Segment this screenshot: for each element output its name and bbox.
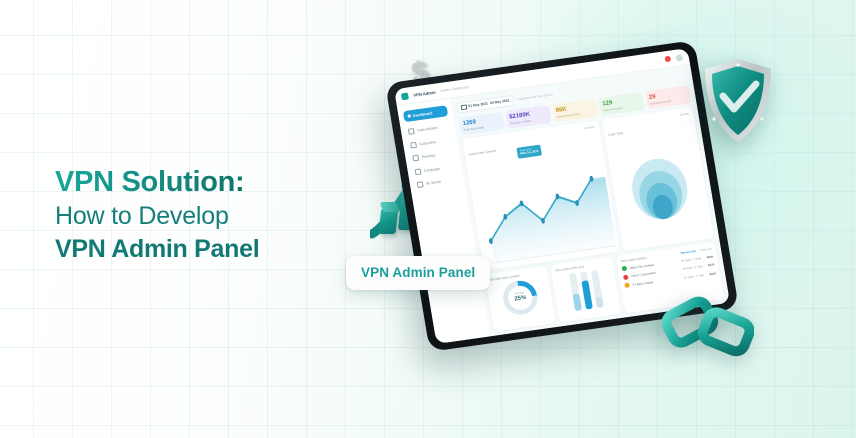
user-icon — [410, 141, 417, 148]
chart-title: Data Type — [608, 131, 623, 137]
growth-bar-1 — [379, 208, 399, 234]
chart-icon — [408, 128, 415, 135]
subscription-meta: 15 Sale / 1 Year — [682, 264, 703, 271]
logo-icon — [401, 92, 409, 100]
bar-column-1 — [568, 273, 581, 311]
compare-label[interactable]: Compare with last period — [517, 93, 553, 102]
chart-tooltip: Subscriber May 14, 2021 — [516, 145, 542, 159]
headline-line-1: VPN Solution: — [55, 165, 355, 200]
status-dot-icon — [622, 266, 628, 272]
subscription-amount: $410 — [709, 271, 716, 276]
data-type-chart: Data Type Weekly — [602, 107, 714, 250]
sidebar-item-dashboard[interactable]: Dashboard — [403, 105, 448, 122]
sales-growth-gauge: Average 25% — [501, 279, 540, 317]
funnel-chart-svg — [606, 134, 713, 249]
tab-offline[interactable]: Offline (8) — [699, 247, 712, 253]
tab-recent[interactable]: Recent (15) — [680, 249, 696, 255]
area-chart-svg — [468, 154, 619, 267]
sidebar-item-package[interactable]: Package — [412, 150, 455, 162]
subscription-amount: $500 — [706, 254, 713, 259]
box-icon — [412, 155, 419, 162]
sidebar-item-data-analytic[interactable]: Data Analytic — [408, 123, 451, 135]
chart-period-dropdown[interactable]: Monthly — [584, 125, 595, 130]
chart-title: Subscriber Growth — [469, 149, 497, 157]
headline-line-3: VPN Admin Panel — [55, 233, 355, 266]
bar-column-3 — [590, 270, 603, 308]
gauge-value: 25% — [514, 295, 527, 303]
sidebar-item-label: Data Analytic — [417, 126, 438, 133]
headline-line-2: How to Develop — [55, 200, 355, 233]
server-icon — [417, 181, 424, 188]
date-start: 01 May 2021 — [468, 102, 488, 109]
stat-card-amount-of-sales[interactable]: $2189K Amount of Sales — [505, 104, 552, 129]
shield-check-3d-icon — [700, 56, 776, 146]
sidebar-item-label: All Server — [426, 180, 442, 186]
subscription-meta: 22 Sale / 1 Year — [683, 273, 704, 280]
vpn-admin-panel-badge: VPN Admin Panel — [346, 256, 490, 290]
stat-card-recurring-account[interactable]: 86K Recurring Account — [552, 98, 599, 123]
bell-icon[interactable] — [664, 56, 671, 63]
subscription-meta: 30 Sale / 1 Year — [681, 256, 702, 263]
sidebar-item-subscriber[interactable]: Subscriber — [410, 136, 453, 148]
new-subscriber-card: New Subscriber add — [550, 257, 621, 323]
megaphone-icon — [414, 168, 421, 175]
avatar[interactable] — [675, 53, 683, 61]
subscriber-growth-chart: Subscriber Growth Monthly Subscriber May… — [462, 121, 619, 271]
grid-icon — [407, 114, 410, 117]
tooltip-value: May 14, 2021 — [520, 150, 539, 156]
charts-row: Subscriber Growth Monthly Subscriber May… — [462, 107, 714, 270]
date-end: 30 May 2021 — [490, 99, 510, 106]
sidebar-item-all-server[interactable]: All Server — [417, 176, 460, 188]
sidebar-item-label: Package — [421, 153, 436, 159]
new-subscriber-bars — [556, 268, 616, 313]
stat-card-active-account[interactable]: 129 Active Account — [598, 91, 645, 116]
chain-links-3d-icon — [662, 288, 754, 364]
breadcrumb: Home / Dashboard — [440, 85, 469, 93]
bar-column-2 — [579, 271, 592, 309]
stat-card-inactive-account[interactable]: 29 Inactive Account — [645, 85, 692, 110]
status-dot-icon — [623, 274, 629, 280]
stat-card-total-subscriber[interactable]: 1269 Total Subscriber — [459, 111, 506, 136]
vpn-solution-banner: VPN Solution: How to Develop VPN Admin P… — [0, 0, 856, 438]
sidebar-item-label: Dashboard — [412, 111, 432, 118]
chart-period-dropdown[interactable]: Weekly — [679, 112, 689, 117]
calendar-icon — [461, 104, 467, 110]
logo-text: VPN Admin — [413, 89, 436, 97]
sidebar-item-label: Campaign — [424, 166, 441, 172]
subscription-amount: $270 — [708, 262, 715, 267]
status-dot-icon — [624, 282, 630, 288]
headline-block: VPN Solution: How to Develop VPN Admin P… — [55, 165, 355, 265]
monthly-sales-growth-card: Monthly sales growth Average 25% — [485, 266, 556, 332]
sidebar-item-label: Subscriber — [419, 139, 437, 145]
sidebar-item-campaign[interactable]: Campaign — [414, 163, 457, 175]
